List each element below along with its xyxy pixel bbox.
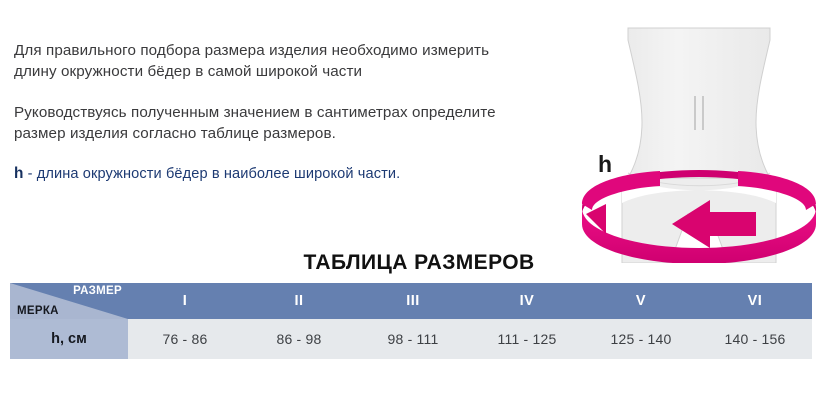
legend-line: h - длина окружности бёдер в наиболее ши… <box>14 164 514 184</box>
column-header-5: V <box>584 283 698 319</box>
size-table-body: h, см 76 - 86 86 - 98 98 - 111 111 - 125… <box>10 319 812 359</box>
cell-h-4: 111 - 125 <box>470 319 584 359</box>
corner-size-label: РАЗМЕР <box>73 285 122 297</box>
column-header-1: I <box>128 283 242 319</box>
cell-h-3: 98 - 111 <box>356 319 470 359</box>
instructions-block: Для правильного подбора размера изделия … <box>14 40 514 184</box>
size-chart-page: Для правильного подбора размера изделия … <box>0 0 838 419</box>
hip-measurement-illustration: h <box>560 18 838 263</box>
cell-h-1: 76 - 86 <box>128 319 242 359</box>
size-table-head: РАЗМЕР МЕРКА I II III IV V VI <box>10 283 812 319</box>
size-table-header-row: РАЗМЕР МЕРКА I II III IV V VI <box>10 283 812 319</box>
column-header-4: IV <box>470 283 584 319</box>
cell-h-5: 125 - 140 <box>584 319 698 359</box>
cell-h-2: 86 - 98 <box>242 319 356 359</box>
column-header-6: VI <box>698 283 812 319</box>
corner-measure-label: МЕРКА <box>17 305 59 317</box>
cell-h-6: 140 - 156 <box>698 319 812 359</box>
legend-description: - длина окружности бёдер в наиболее широ… <box>24 166 401 182</box>
row-label-h: h, см <box>10 319 128 359</box>
torso-diagram-svg <box>560 18 838 263</box>
table-row: h, см 76 - 86 86 - 98 98 - 111 111 - 125… <box>10 319 812 359</box>
size-table-title: ТАБЛИЦА РАЗМЕРОВ <box>0 251 838 275</box>
torso-garment <box>628 28 770 186</box>
instruction-paragraph-2: Руководствуясь полученным значением в са… <box>14 102 514 144</box>
legend-symbol: h <box>14 165 24 182</box>
instruction-paragraph-1: Для правильного подбора размера изделия … <box>14 40 514 82</box>
column-header-3: III <box>356 283 470 319</box>
table-corner-cell: РАЗМЕР МЕРКА <box>10 283 128 319</box>
hip-measure-label: h <box>598 151 612 178</box>
size-table: РАЗМЕР МЕРКА I II III IV V VI h, см 76 -… <box>10 283 812 359</box>
column-header-2: II <box>242 283 356 319</box>
